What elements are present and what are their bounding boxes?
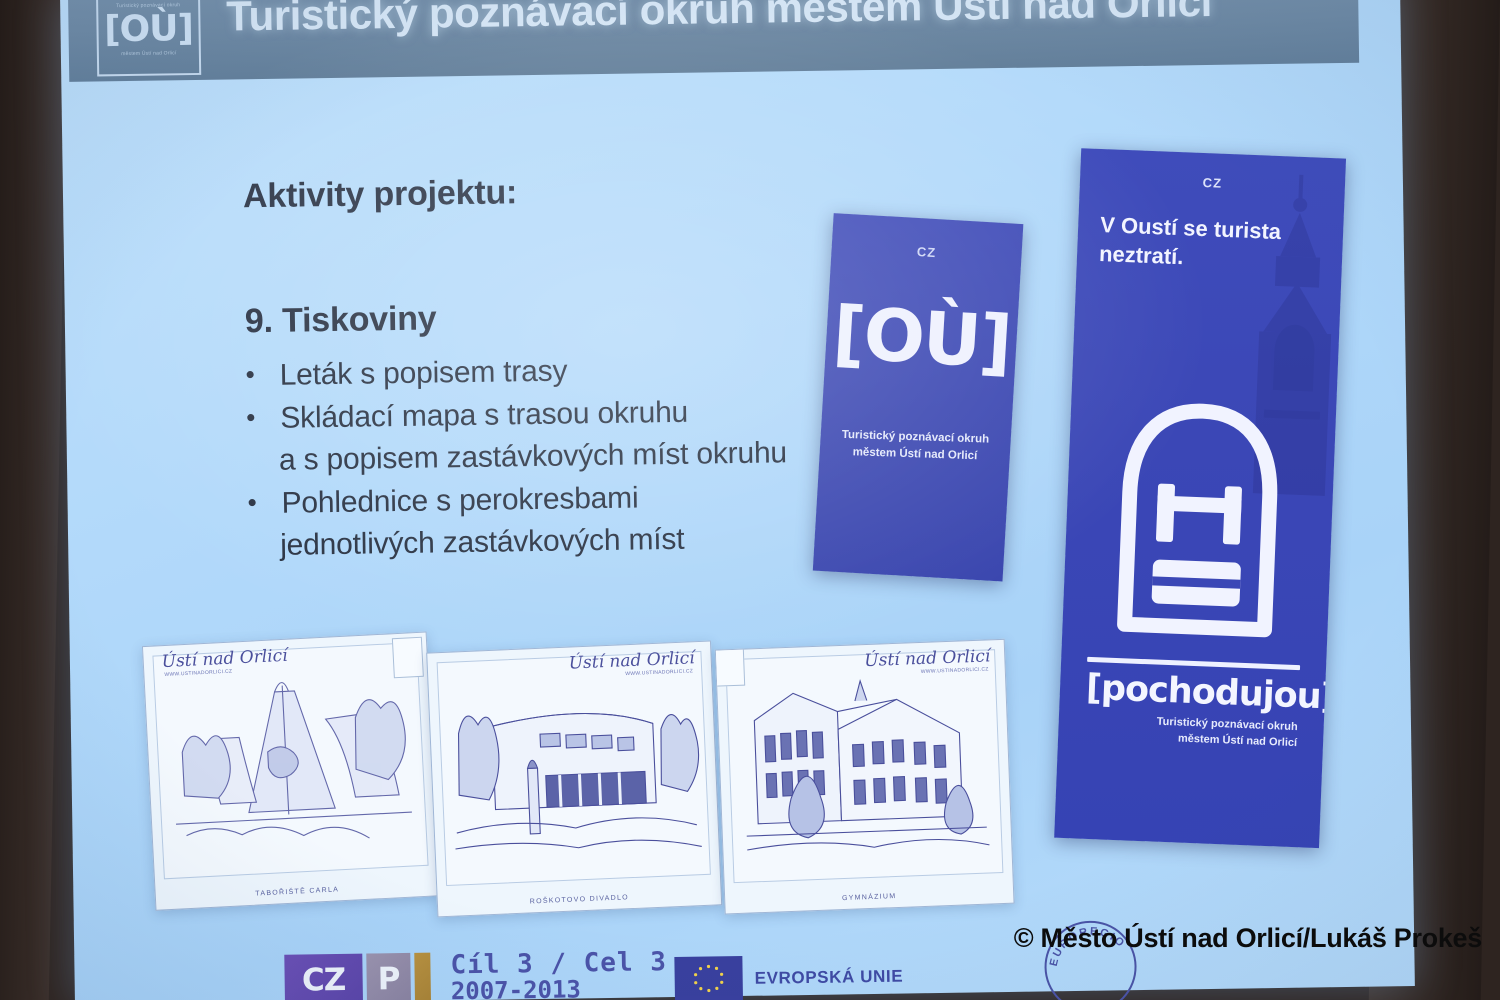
photo-of-projection-screen: Turistický poznávací okruh [OÙ] městem Ú… [0, 0, 1500, 1000]
ou-logo-mark: [OÙ] [104, 11, 193, 48]
backpack-icon [1094, 371, 1304, 647]
bullet-icon: • [246, 397, 281, 437]
flyer-back-language-label: CZ [831, 239, 1022, 265]
slide-title: Turistický poznávací okruh městem Ústí n… [226, 0, 1212, 41]
flyer-front-footer: [pochodujou] Turistický poznávací okruh … [1058, 656, 1326, 752]
flyer-back-subtitle-line2: městem Ústí nad Orlicí [853, 446, 978, 462]
european-union-logo: EVROPSKÁ UNIE [674, 954, 903, 1000]
activities-heading: Aktivity projektu: [243, 167, 944, 216]
programme-goal-line1: Cíl 3 / Cel 3 [450, 949, 667, 979]
cz-pl-programme-logo: CZ P Cíl 3 / Cel 3 2007-2013 [284, 949, 667, 1000]
town-crest-icon [392, 637, 424, 678]
postcard-artwork [725, 649, 1003, 883]
ou-logo-bottom-text: městem Ústí nad Orlicí [121, 51, 176, 57]
flyer-front-tagline-line2: městem Ústí nad Orlicí [1178, 732, 1298, 749]
flyer-front-claim-line2: neztratí. [1099, 241, 1184, 269]
town-crest-icon [715, 646, 745, 687]
eu-flag-icon [674, 956, 743, 1000]
flyer-front-claim-line1: V Oustí se turista [1100, 212, 1282, 244]
postcard-artwork [437, 651, 711, 886]
brochure-flyer-back: CZ [OÙ] Turistický poznávací okruh měste… [813, 213, 1024, 581]
flyer-front-wordmark: [pochodujou] [1085, 671, 1299, 714]
flyer-back-subtitle-line1: Turistický poznávací okruh [842, 429, 990, 446]
eu-stars-icon [674, 956, 743, 1000]
flyer-back-subtitle: Turistický poznávací okruh městem Ústí n… [820, 426, 1011, 465]
programme-goal-text: Cíl 3 / Cel 3 2007-2013 [450, 949, 667, 1000]
presentation-slide: Turistický poznávací okruh [OÙ] městem Ú… [60, 0, 1415, 1000]
postcard-caption: TABOŘIŠTĚ CARLA [156, 881, 439, 903]
pen-drawing-taboriste-icon [153, 643, 427, 878]
pen-drawing-gymnazium-icon [726, 650, 1002, 882]
list-item-line1: Leták s popisem trasy [279, 355, 567, 392]
postcard-artwork [152, 642, 428, 879]
postcard-caption: ROŠKOTOVO DIVADLO [438, 890, 721, 909]
slide-header-band: Turistický poznávací okruh [OÙ] městem Ú… [68, 0, 1359, 82]
photo-copyright-watermark: © Město Ústí nad Orlicí/Lukáš Prokeš [1014, 923, 1482, 954]
flyer-front-tagline: Turistický poznávací okruh městem Ústí n… [1084, 712, 1298, 751]
ou-logo-top-text: Turistický poznávací okruh [116, 3, 180, 9]
list-item-line1: Skládací mapa s trasou okruhu [280, 395, 688, 434]
bullet-icon: • [247, 483, 282, 523]
postcard: Ústí nad Orlicí WWW.USTINADORLICI.CZ GYM… [715, 639, 1015, 915]
flyer-front-tagline-line1: Turistický poznávací okruh [1157, 716, 1298, 734]
room-wall-left [0, 0, 68, 1000]
accent-block [414, 953, 431, 1000]
programme-goal-line2: 2007-2013 [451, 976, 668, 1000]
ou-logo-icon: Turistický poznávací okruh [OÙ] městem Ú… [96, 0, 201, 76]
brochure-flyer-front: CZ V Oustí se turista neztratí. [1054, 148, 1346, 848]
list-item-line1: Pohlednice s perokresbami [281, 481, 638, 519]
cz-block-label: CZ [284, 954, 363, 1000]
eu-label: EVROPSKÁ UNIE [755, 966, 904, 990]
flyer-back-ou-logo-icon: [OÙ] [825, 296, 1019, 379]
flyer-front-claim: V Oustí se turista neztratí. [1099, 210, 1286, 275]
pen-drawing-theatre-icon [438, 652, 710, 885]
postcard: Ústí nad Orlicí WWW.USTINADORLICI.CZ TAB… [142, 631, 440, 910]
pl-block-label: P [366, 953, 411, 1000]
postcard: Ústí nad Orlicí WWW.USTINADORLICI.CZ ROŠ… [426, 640, 722, 917]
bullet-icon: • [245, 355, 280, 395]
postcard-caption: GYMNÁZIUM [725, 889, 1013, 907]
